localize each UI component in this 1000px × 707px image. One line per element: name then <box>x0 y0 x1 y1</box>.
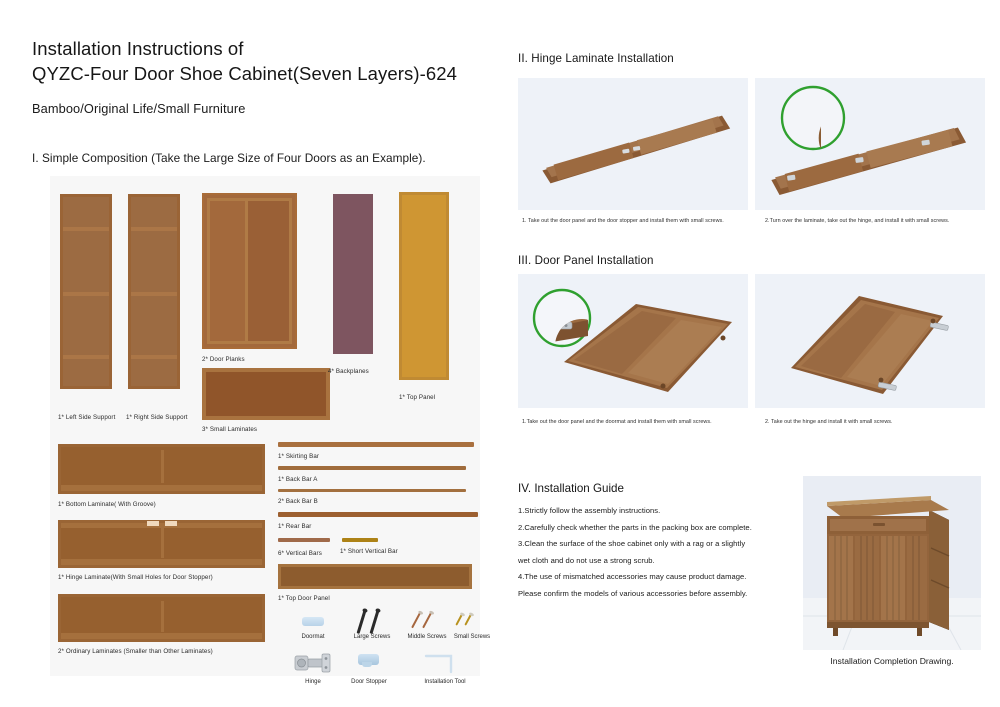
part-small-laminates <box>202 368 330 420</box>
part-rear-bar <box>278 512 478 517</box>
caption-right-side-support: 1* Right Side Support <box>126 414 188 421</box>
title-line-2: QYZC-Four Door Shoe Cabinet(Seven Layers… <box>32 61 487 86</box>
caption-rear-bar: 1* Rear Bar <box>278 523 311 530</box>
part-door-planks <box>202 193 297 349</box>
section-iii-photo-2 <box>755 274 985 408</box>
parts-board: 1* Left Side Support 1* Right Side Suppo… <box>50 176 480 676</box>
section-ii-photo-2 <box>755 78 985 210</box>
hardware-label-doormat: Doormat <box>287 634 339 640</box>
caption-short-vertical-bar: 1* Short Vertical Bar <box>340 548 398 555</box>
guide-line: 4.The use of mismatched accessories may … <box>518 569 806 586</box>
section-ii-photo-1 <box>518 78 748 210</box>
caption-back-bar-b: 2* Back Bar B <box>278 498 318 505</box>
hardware-door-stopper-icon <box>358 654 379 665</box>
part-back-bar-b <box>278 489 466 492</box>
installation-completion-photo <box>803 476 981 650</box>
page-title: Installation Instructions of QYZC-Four D… <box>32 36 487 86</box>
section-ii-caption-1: 1. Take out the door panel and the door … <box>522 218 724 224</box>
hardware-label-door-stopper: Door Stopper <box>343 679 395 685</box>
left-column: Installation Instructions of QYZC-Four D… <box>32 36 487 165</box>
caption-hinge-laminate: 1* Hinge Laminate(With Small Holes for D… <box>58 574 213 581</box>
caption-top-panel: 1* Top Panel <box>399 394 435 401</box>
part-bottom-laminate <box>58 444 265 494</box>
section-iii-caption-1: 1.Take out the door panel and the doorma… <box>522 419 712 425</box>
caption-door-planks: 2* Door Planks <box>202 356 245 363</box>
right-column: II. Hinge Laminate Installation <box>518 52 986 65</box>
part-ordinary-laminates <box>58 594 265 642</box>
hardware-large-screws-icon <box>354 610 386 636</box>
section-ii-caption-2: 2.Turn over the laminate, take out the h… <box>765 218 949 224</box>
installation-completion-caption: Installation Completion Drawing. <box>803 656 981 666</box>
instruction-sheet: Installation Instructions of QYZC-Four D… <box>0 0 1000 707</box>
page-subtitle: Bamboo/Original Life/Small Furniture <box>32 101 487 116</box>
hardware-label-large-screws: Large Screws <box>346 634 398 640</box>
part-vertical-bars <box>278 538 330 542</box>
caption-small-laminates: 3* Small Laminates <box>202 426 257 433</box>
caption-back-bar-a: 1* Back Bar A <box>278 476 317 483</box>
hardware-middle-screws-icon <box>410 612 438 634</box>
part-skirting-bar <box>278 442 474 447</box>
section-iii-photo-1 <box>518 274 748 408</box>
hardware-hinge-icon <box>293 650 333 676</box>
part-hinge-laminate <box>58 520 265 568</box>
hardware-label-hinge: Hinge <box>287 679 339 685</box>
section-i-heading: I. Simple Composition (Take the Large Si… <box>32 151 487 165</box>
part-top-door-panel <box>278 564 472 589</box>
caption-ordinary-laminates: 2* Ordinary Laminates (Smaller than Othe… <box>58 648 213 655</box>
caption-left-side-support: 1* Left Side Support <box>58 414 115 421</box>
hardware-small-screws-icon <box>454 614 478 632</box>
installation-guide-list: 1.Strictly follow the assembly instructi… <box>518 503 806 603</box>
hardware-label-installation-tool: Installation Tool <box>417 679 473 685</box>
part-short-vertical-bar <box>342 538 378 542</box>
section-ii-heading: II. Hinge Laminate Installation <box>518 52 986 65</box>
part-top-panel <box>399 192 449 380</box>
guide-line: 3.Clean the surface of the shoe cabinet … <box>518 536 806 553</box>
title-line-1: Installation Instructions of <box>32 36 487 61</box>
guide-line: Please confirm the models of various acc… <box>518 586 806 603</box>
part-back-bar-a <box>278 466 466 470</box>
caption-bottom-laminate: 1* Bottom Laminate( With Groove) <box>58 501 156 508</box>
section-iv-heading: IV. Installation Guide <box>518 482 624 495</box>
section-iii-heading: III. Door Panel Installation <box>518 254 654 267</box>
part-backplanes <box>333 194 373 354</box>
hardware-installation-tool-icon <box>424 652 458 676</box>
caption-backplanes: 4* Backplanes <box>328 368 369 375</box>
section-iii-caption-2: 2. Take out the hinge and install it wit… <box>765 419 893 425</box>
hardware-label-small-screws: Small Screws <box>446 634 498 640</box>
hardware-doormat-icon <box>302 617 324 626</box>
caption-vertical-bars: 6* Vertical Bars <box>278 550 322 557</box>
caption-skirting-bar: 1* Skirting Bar <box>278 453 319 460</box>
part-left-side-support <box>60 194 112 389</box>
caption-top-door-panel: 1* Top Door Panel <box>278 595 330 602</box>
guide-line: 2.Carefully check whether the parts in t… <box>518 520 806 537</box>
part-right-side-support <box>128 194 180 389</box>
guide-line: 1.Strictly follow the assembly instructi… <box>518 503 806 520</box>
guide-line: wet cloth and do not use a strong scrub. <box>518 553 806 570</box>
